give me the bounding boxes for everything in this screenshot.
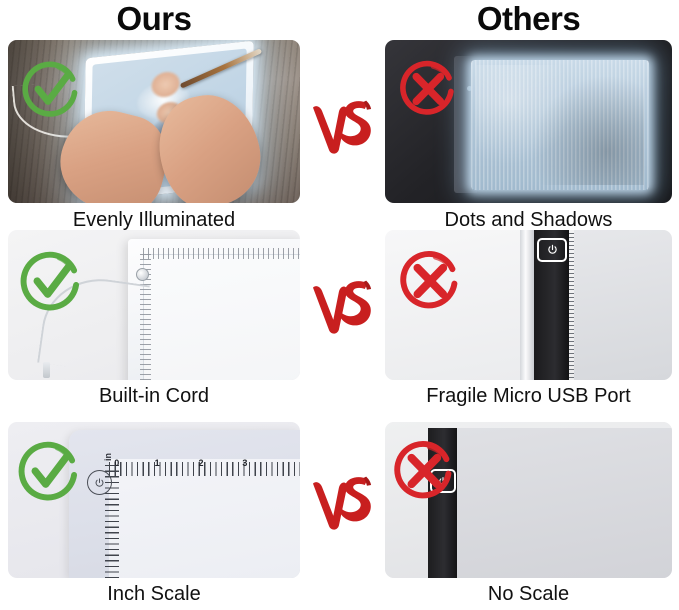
- power-icon: [537, 238, 567, 262]
- pad-corner-fitting: [136, 268, 149, 281]
- green-check-circle-icon: [20, 58, 82, 120]
- comparison-row-illumination: Evenly Illuminated: [0, 40, 679, 230]
- vs-brush-icon: [306, 268, 376, 338]
- others-cell-illumination: Dots and Shadows: [385, 40, 672, 203]
- ours-image-scale: in 0 1 2 3: [8, 422, 300, 578]
- column-header-others: Others: [385, 0, 672, 38]
- ruler-tick-number: 2: [198, 458, 203, 468]
- green-check-circle-icon: [18, 248, 84, 314]
- red-cross-circle-icon: [397, 248, 463, 314]
- ours-image-illumination: [8, 40, 300, 203]
- ours-caption-illumination: Evenly Illuminated: [8, 208, 300, 232]
- pad-drawing-surface: [109, 459, 300, 578]
- column-header-ours: Ours: [8, 0, 300, 38]
- ruler-tick-number: 0: [114, 458, 119, 468]
- ruler-tick-number: 3: [242, 458, 247, 468]
- pad-plain-surface: [457, 428, 672, 578]
- comparison-row-power-cord: Built-in Cord: [0, 230, 679, 422]
- vs-brush-icon: [306, 464, 376, 534]
- comparison-row-scale: in 0 1 2 3: [0, 422, 679, 610]
- product-comparison-infographic: Ours Others: [0, 0, 679, 610]
- others-caption-power-cord: Fragile Micro USB Port: [385, 384, 672, 408]
- ruler-tick-number: 1: [155, 458, 160, 468]
- pad-right-surface: [574, 230, 672, 380]
- power-icon: [87, 470, 112, 495]
- ours-cell-scale: in 0 1 2 3: [8, 422, 300, 578]
- others-image-illumination: [385, 40, 672, 203]
- others-caption-scale: No Scale: [385, 582, 672, 606]
- others-cell-scale: No Scale: [385, 422, 672, 578]
- red-cross-circle-icon: [391, 438, 457, 504]
- light-pad-with-scale: in 0 1 2 3: [69, 430, 300, 578]
- pad-drawing-surface: [143, 254, 300, 380]
- others-caption-illumination: Dots and Shadows: [385, 208, 672, 232]
- red-cross-circle-icon: [397, 58, 459, 120]
- ours-caption-power-cord: Built-in Cord: [8, 384, 300, 408]
- white-light-pad: [128, 239, 300, 380]
- others-image-scale: [385, 422, 672, 578]
- ours-cell-power-cord: Built-in Cord: [8, 230, 300, 380]
- inch-ruler-horizontal: [109, 462, 300, 476]
- ours-image-power-cord: [8, 230, 300, 380]
- green-check-circle-icon: [16, 438, 82, 504]
- pad-top-ruler: [143, 248, 300, 259]
- streaky-light-surface: [471, 60, 649, 190]
- others-cell-power-cord: Fragile Micro USB Port: [385, 230, 672, 380]
- pad-edge-rail: [520, 230, 534, 380]
- comparison-header-row: Ours Others: [0, 0, 679, 40]
- vs-brush-icon: [306, 88, 376, 158]
- others-image-power-cord: [385, 230, 672, 380]
- ruler-unit-label: in: [103, 453, 113, 461]
- cord-plug: [43, 362, 50, 378]
- ours-caption-scale: Inch Scale: [8, 582, 300, 606]
- ours-cell-illumination: Evenly Illuminated: [8, 40, 300, 203]
